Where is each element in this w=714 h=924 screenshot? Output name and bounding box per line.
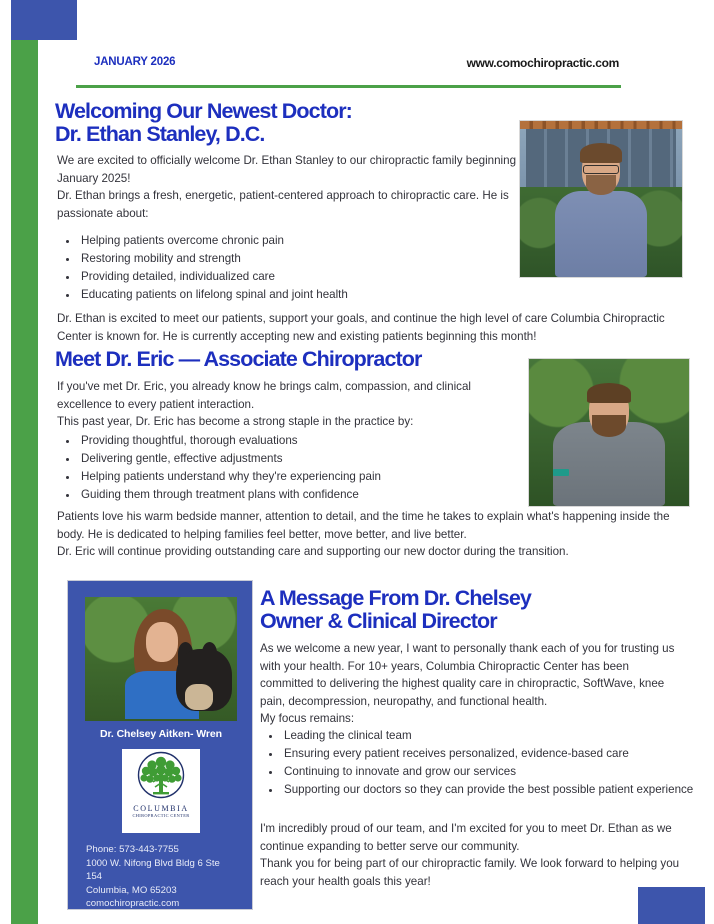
list-item: Guiding them through treatment plans wit…: [79, 486, 529, 504]
article-ethan-intro: We are excited to officially welcome Dr.…: [57, 152, 517, 222]
list-item: Educating patients on lifelong spinal an…: [79, 286, 539, 304]
article-eric-outro-p2: Dr. Eric will continue providing outstan…: [57, 543, 687, 561]
article-eric-outro-p1: Patients love his warm bedside manner, a…: [57, 508, 687, 543]
article-ethan-heading: Welcoming Our Newest Doctor: Dr. Ethan S…: [55, 100, 525, 146]
tree-logo-icon: [132, 751, 190, 803]
photo-dr-eric-art: [529, 359, 689, 506]
article-eric-intro-p2: This past year, Dr. Eric has become a st…: [57, 413, 487, 431]
logo-wordmark: COLUMBIA: [133, 804, 188, 813]
article-ethan-outro: Dr. Ethan is excited to meet our patient…: [57, 310, 679, 345]
list-item: Leading the clinical team: [282, 727, 707, 745]
contact-address-line2: 154: [86, 870, 241, 884]
article-ethan-heading-line2: Dr. Ethan Stanley, D.C.: [55, 123, 525, 146]
list-item: Providing detailed, individualized care: [79, 268, 539, 286]
article-chelsey-heading-line1: A Message From Dr. Chelsey: [260, 586, 531, 610]
article-chelsey-body-p2: My focus remains:: [260, 710, 685, 728]
list-item: Supporting our doctors so they can provi…: [282, 781, 707, 799]
article-eric-intro-p1: If you've met Dr. Eric, you already know…: [57, 378, 487, 413]
doctor-profile-card: Dr. Chelsey Aitken- Wren COLUMBIA CHI: [67, 580, 253, 910]
corner-accent-top-left: [11, 0, 77, 40]
list-item: Restoring mobility and strength: [79, 250, 539, 268]
list-item: Providing thoughtful, thorough evaluatio…: [79, 432, 529, 450]
article-eric-heading: Meet Dr. Eric — Associate Chiropractor: [55, 348, 525, 371]
article-chelsey-body: As we welcome a new year, I want to pers…: [260, 640, 685, 728]
contact-address-line3: Columbia, MO 65203: [86, 884, 241, 898]
clinic-logo: COLUMBIA CHIROPRACTIC CENTER: [122, 749, 200, 833]
article-chelsey-outro-p2: Thank you for being part of our chiropra…: [260, 855, 690, 890]
article-eric-intro: If you've met Dr. Eric, you already know…: [57, 378, 487, 431]
article-chelsey-heading-line2: Owner & Clinical Director: [260, 610, 680, 633]
article-eric-outro: Patients love his warm bedside manner, a…: [57, 508, 687, 561]
list-item: Ensuring every patient receives personal…: [282, 745, 707, 763]
left-green-rail: [11, 40, 38, 924]
card-doctor-name: Dr. Chelsey Aitken- Wren: [68, 728, 254, 740]
article-chelsey-body-p1: As we welcome a new year, I want to pers…: [260, 640, 685, 710]
clinic-contact-info: Phone: 573-443-7755 1000 W. Nifong Blvd …: [86, 843, 241, 911]
photo-dr-eric: [528, 358, 690, 507]
article-eric-bullets: Providing thoughtful, thorough evaluatio…: [57, 432, 529, 504]
article-chelsey-heading: A Message From Dr. Chelsey Owner & Clini…: [260, 587, 680, 633]
contact-website[interactable]: comochiropractic.com: [86, 897, 241, 911]
article-ethan-bullets: Helping patients overcome chronic pain R…: [57, 232, 539, 304]
masthead: JANUARY 2026 www.comochiropractic.com: [76, 52, 621, 90]
article-chelsey-outro-p1: I'm incredibly proud of our team, and I'…: [260, 820, 690, 855]
list-item: Helping patients overcome chronic pain: [79, 232, 539, 250]
list-item: Helping patients understand why they're …: [79, 468, 529, 486]
corner-accent-bottom-right: [638, 887, 705, 924]
logo-submark: CHIROPRACTIC CENTER: [132, 813, 189, 818]
contact-address-line1: 1000 W. Nifong Blvd Bldg 6 Ste: [86, 857, 241, 871]
contact-phone[interactable]: Phone: 573-443-7755: [86, 843, 241, 857]
article-chelsey-bullets: Leading the clinical team Ensuring every…: [260, 727, 707, 799]
masthead-divider: [76, 85, 621, 88]
photo-dr-chelsey: [85, 597, 237, 721]
photo-dr-ethan-art: [520, 121, 682, 277]
article-ethan-heading-line1: Welcoming Our Newest Doctor:: [55, 99, 352, 123]
list-item: Delivering gentle, effective adjustments: [79, 450, 529, 468]
article-ethan-intro-p1: We are excited to officially welcome Dr.…: [57, 152, 517, 187]
photo-dr-ethan: [519, 120, 683, 278]
list-item: Continuing to innovate and grow our serv…: [282, 763, 707, 781]
website-url[interactable]: www.comochiropractic.com: [467, 56, 619, 70]
issue-date: JANUARY 2026: [94, 56, 175, 68]
article-ethan-intro-p2: Dr. Ethan brings a fresh, energetic, pat…: [57, 187, 517, 222]
article-chelsey-outro: I'm incredibly proud of our team, and I'…: [260, 820, 690, 890]
